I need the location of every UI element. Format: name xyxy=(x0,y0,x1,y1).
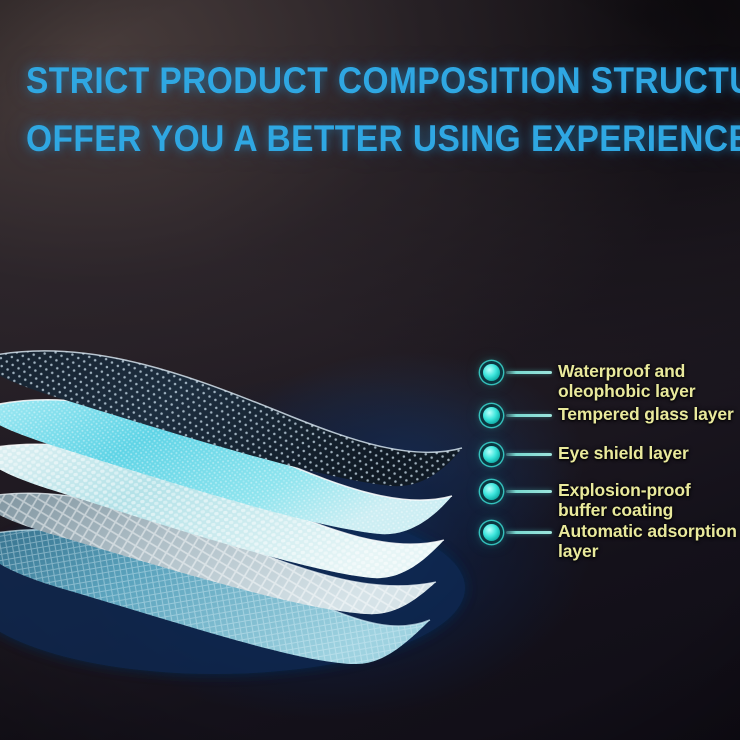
callout-dot-icon xyxy=(483,483,500,500)
callout-connector-line xyxy=(506,490,552,493)
callout-dot-icon xyxy=(483,446,500,463)
callout-label: Waterproof and oleophobic layer xyxy=(558,361,695,401)
callout-waterproof-oleophobic[interactable]: Waterproof and oleophobic layer xyxy=(483,361,695,401)
callout-automatic-adsorption[interactable]: Automatic adsorption layer xyxy=(483,521,737,561)
callout-connector-line xyxy=(506,453,552,456)
callout-label: Automatic adsorption layer xyxy=(558,521,737,561)
callout-dot-icon xyxy=(483,524,500,541)
callout-tempered-glass[interactable]: Tempered glass layer xyxy=(483,404,734,424)
callout-list: Waterproof and oleophobic layer Tempered… xyxy=(0,0,740,740)
product-composition-poster: STRICT PRODUCT COMPOSITION STRUCTURE OFF… xyxy=(0,0,740,740)
callout-explosion-proof-buffer[interactable]: Explosion-proof buffer coating xyxy=(483,480,691,520)
callout-dot-icon xyxy=(483,364,500,381)
callout-connector-line xyxy=(506,414,552,417)
callout-connector-line xyxy=(506,531,552,534)
callout-label: Explosion-proof buffer coating xyxy=(558,480,691,520)
callout-label: Eye shield layer xyxy=(558,443,689,463)
callout-connector-line xyxy=(506,371,552,374)
callout-eye-shield[interactable]: Eye shield layer xyxy=(483,443,689,463)
callout-dot-icon xyxy=(483,407,500,424)
callout-label: Tempered glass layer xyxy=(558,404,734,424)
